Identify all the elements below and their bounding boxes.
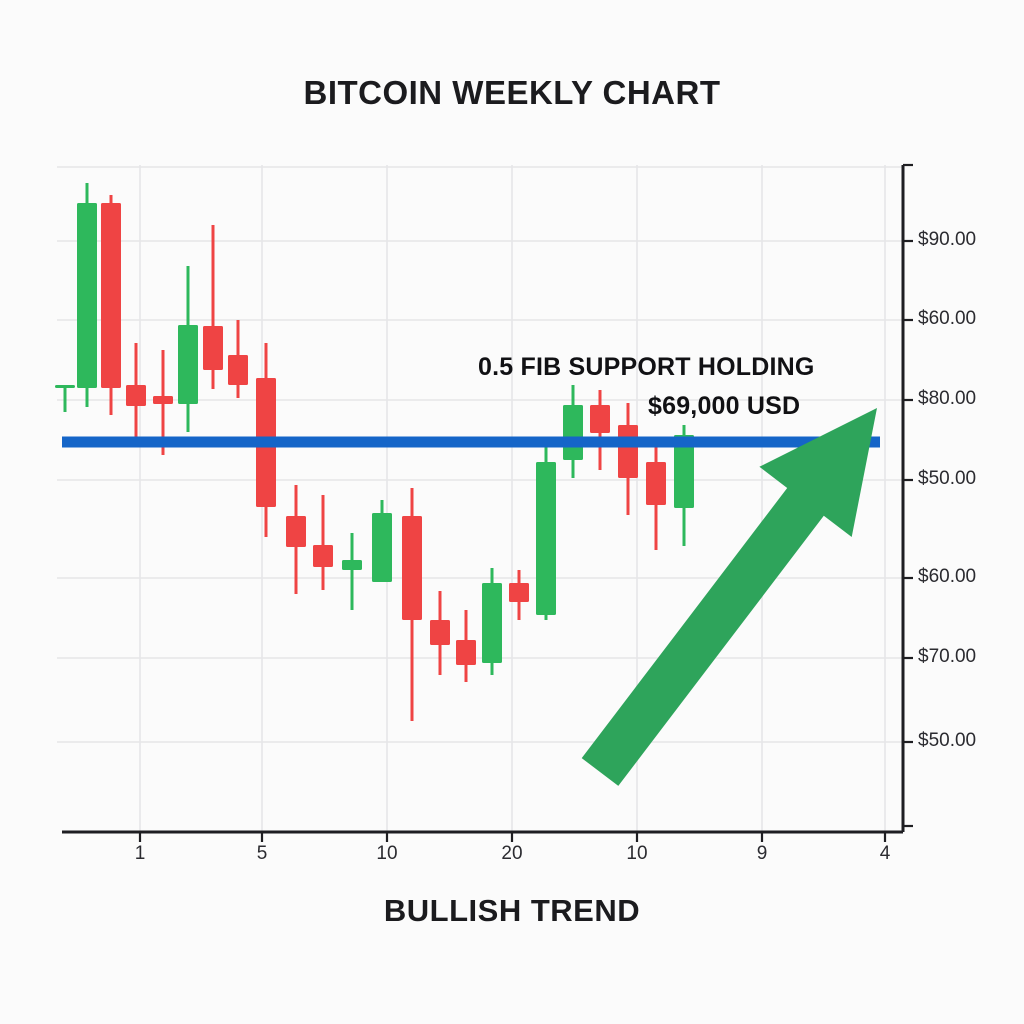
x-axis-tick-label: 1 xyxy=(135,843,146,865)
y-axis-tick-label: $90.00 xyxy=(918,229,976,251)
chart-canvas: BITCOIN WEEKLY CHART $90.00$60.00$80.00$… xyxy=(0,0,1024,1024)
x-axis-tick-label: 4 xyxy=(880,843,891,865)
support-annotation-value: $69,000 USD xyxy=(648,392,800,421)
y-axis-tick-label: $60.00 xyxy=(918,308,976,330)
candlestick-plot xyxy=(0,0,1024,1024)
support-annotation-label: 0.5 FIB SUPPORT HOLDING xyxy=(478,353,815,382)
x-axis-tick-label: 10 xyxy=(626,843,647,865)
x-axis-tick-label: 10 xyxy=(376,843,397,865)
y-axis-tick-label: $50.00 xyxy=(918,468,976,490)
horizontal-gridlines xyxy=(57,167,903,742)
y-axis-tick-label: $60.00 xyxy=(918,566,976,588)
axis-spines xyxy=(62,165,903,832)
x-axis-tick-label: 9 xyxy=(757,843,768,865)
vertical-gridlines xyxy=(140,165,885,832)
candlestick-series xyxy=(55,183,694,721)
x-axis-tick-label: 20 xyxy=(501,843,522,865)
y-axis-tick-label: $50.00 xyxy=(918,730,976,752)
chart-caption: BULLISH TREND xyxy=(0,893,1024,929)
y-axis-tick-label: $70.00 xyxy=(918,646,976,668)
x-axis-tick-label: 5 xyxy=(257,843,268,865)
y-axis-tick-label: $80.00 xyxy=(918,388,976,410)
